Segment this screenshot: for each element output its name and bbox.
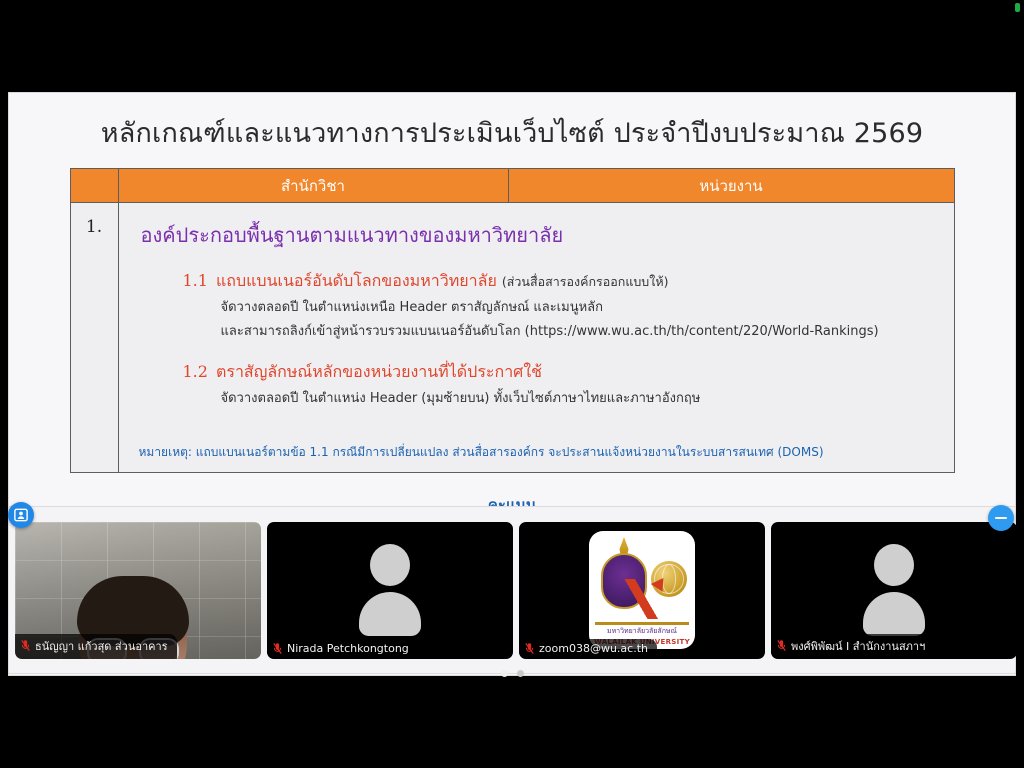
default-avatar-icon bbox=[855, 544, 933, 636]
criteria-item-1-1-detail-2: และสามารถลิงก์เข้าสู่หน้ารวบรวมแบนเนอร์อ… bbox=[221, 323, 944, 342]
mic-muted-icon bbox=[525, 642, 534, 655]
participant-name-badge-1: ธนัญญา แก้วสุด ส่วนอาคาร bbox=[15, 634, 177, 659]
criteria-item-1-2: 1.2ตราสัญลักษณ์หลักของหน่วยงานที่ได้ประก… bbox=[183, 360, 944, 385]
participant-name-badge-4: พงศ์พิพัฒน์ I สำนักงานสภาฯ bbox=[771, 634, 934, 659]
pagination-dot-2[interactable] bbox=[517, 670, 524, 677]
pagination-dot-1[interactable] bbox=[501, 670, 508, 677]
participant-name-1: ธนัญญา แก้วสุด ส่วนอาคาร bbox=[35, 637, 168, 655]
gallery-view-toggle-button[interactable] bbox=[8, 502, 34, 528]
table-header-row: สำนักวิชา หน่วยงาน bbox=[70, 169, 954, 203]
criteria-item-1-1-number: 1.1 bbox=[183, 271, 208, 290]
criteria-item-1-1-detail-1: จัดวางตลอดปี ในตำแหน่งเหนือ Header ตราสั… bbox=[221, 299, 944, 318]
participant-name-badge-3: zoom038@wu.ac.th bbox=[519, 639, 657, 659]
gallery-view-icon bbox=[14, 508, 28, 522]
mic-muted-icon bbox=[777, 639, 786, 652]
column-header-school: สำนักวิชา bbox=[118, 169, 508, 203]
criteria-table-header: สำนักวิชา หน่วยงาน bbox=[70, 169, 954, 203]
participant-tile-1[interactable]: ธนัญญา แก้วสุด ส่วนอาคาร bbox=[15, 522, 261, 659]
criteria-item-1-1: 1.1แถบแบนเนอร์อันดับโลกของมหาวิทยาลัย (ส… bbox=[183, 269, 944, 294]
row-heading: องค์ประกอบพื้นฐานตามแนวทางของมหาวิทยาลัย bbox=[141, 219, 944, 251]
criteria-item-1-1-paren: (ส่วนสื่อสารองค์กรออกแบบให้) bbox=[502, 274, 669, 289]
criteria-item-1-2-number: 1.2 bbox=[183, 362, 208, 381]
recording-indicator-icon bbox=[1015, 3, 1020, 12]
participant-tile-4[interactable]: พงศ์พิพัฒน์ I สำนักงานสภาฯ bbox=[771, 522, 1017, 659]
participant-name-2: Nirada Petchkongtong bbox=[287, 642, 409, 655]
criteria-table: สำนักวิชา หน่วยงาน 1. องค์ประกอบพื้นฐานต… bbox=[70, 168, 955, 473]
column-header-unit: หน่วยงาน bbox=[508, 169, 954, 203]
criteria-note: หมายเหตุ: แถบแบนเนอร์ตามข้อ 1.1 กรณีมีกา… bbox=[139, 443, 944, 462]
mic-muted-icon bbox=[273, 642, 282, 655]
page-title: หลักเกณฑ์และแนวทางการประเมินเว็บไซต์ ประ… bbox=[31, 111, 993, 154]
table-row: 1. องค์ประกอบพื้นฐานตามแนวทางของมหาวิทยา… bbox=[70, 203, 954, 473]
participant-tile-3[interactable]: มหาวิทยาลัยวลัยลักษณ์ WALAILAK UNIVERSIT… bbox=[519, 522, 765, 659]
participant-name-badge-2: Nirada Petchkongtong bbox=[267, 639, 418, 659]
filmstrip-pagination[interactable] bbox=[0, 670, 1024, 677]
criteria-item-1-1-title: แถบแบนเนอร์อันดับโลกของมหาวิทยาลัย bbox=[216, 271, 497, 290]
participant-name-3: zoom038@wu.ac.th bbox=[539, 642, 648, 655]
participant-tile-2[interactable]: Nirada Petchkongtong bbox=[267, 522, 513, 659]
criteria-item-1-2-title: ตราสัญลักษณ์หลักของหน่วยงานที่ได้ประกาศใ… bbox=[216, 362, 542, 381]
mic-muted-icon bbox=[21, 639, 30, 652]
default-avatar-icon bbox=[351, 544, 429, 636]
minus-icon bbox=[995, 517, 1007, 520]
column-header-no bbox=[70, 169, 118, 203]
walailak-university-logo-icon: มหาวิทยาลัยวลัยลักษณ์ WALAILAK UNIVERSIT… bbox=[589, 531, 695, 649]
criteria-item-1-2-detail-1: จัดวางตลอดปี ในตำแหน่ง Header (มุมซ้ายบน… bbox=[221, 390, 944, 409]
screen-root: หลักเกณฑ์และแนวทางการประเมินเว็บไซต์ ประ… bbox=[0, 0, 1024, 768]
criteria-table-body: 1. องค์ประกอบพื้นฐานตามแนวทางของมหาวิทยา… bbox=[70, 203, 954, 473]
participant-name-4: พงศ์พิพัฒน์ I สำนักงานสภาฯ bbox=[791, 637, 925, 655]
minimize-filmstrip-button[interactable] bbox=[988, 505, 1014, 531]
row-number: 1. bbox=[70, 203, 118, 473]
row-content: องค์ประกอบพื้นฐานตามแนวทางของมหาวิทยาลัย… bbox=[118, 203, 954, 473]
participant-filmstrip[interactable]: ธนัญญา แก้วสุด ส่วนอาคาร Nirada Petchkon… bbox=[8, 506, 1016, 674]
